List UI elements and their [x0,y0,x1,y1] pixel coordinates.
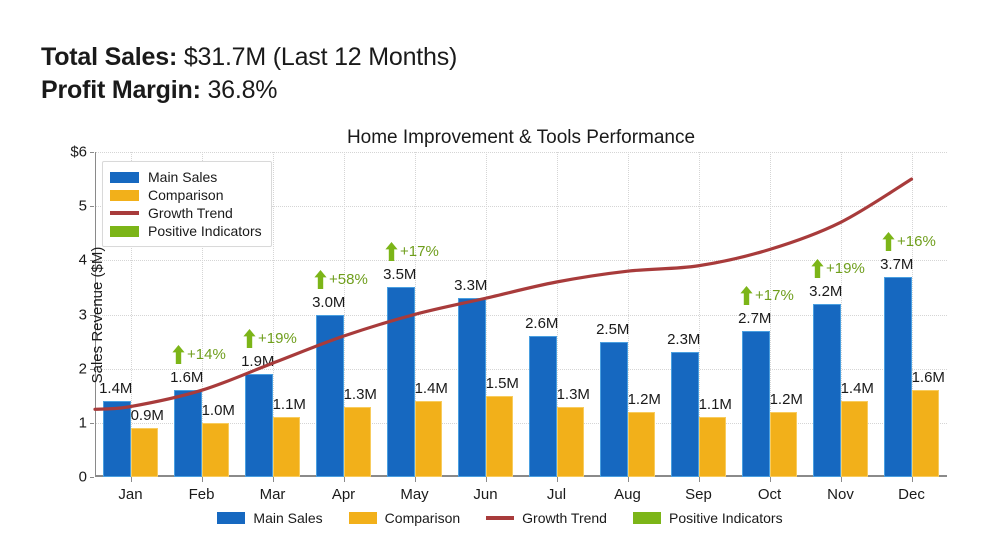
legend-item[interactable]: Positive Indicators [110,222,262,240]
y-tick-label: 1 [27,414,87,431]
up-arrow-icon [314,270,327,289]
x-tick-mark [273,477,274,482]
indicator-label: +14% [187,346,226,363]
up-arrow-icon [172,345,185,364]
bottom-legend: Main SalesComparisonGrowth TrendPositive… [0,510,1000,526]
legend-label: Main Sales [253,510,322,526]
y-tick-mark [90,423,94,424]
x-tick-mark [131,477,132,482]
positive-indicator: +17% [740,286,794,305]
legend-label: Growth Trend [148,205,233,221]
x-tick-label: Feb [162,486,242,503]
positive-indicator: +19% [811,259,865,278]
bottom-legend-item[interactable]: Comparison [349,510,460,526]
indicator-label: +17% [755,287,794,304]
bottom-legend-item[interactable]: Positive Indicators [633,510,783,526]
y-tick-mark [90,369,94,370]
chart-legend: Main SalesComparisonGrowth TrendPositive… [102,161,272,247]
x-tick-mark [841,477,842,482]
legend-swatch [110,226,139,237]
x-tick-mark [415,477,416,482]
bottom-legend-item[interactable]: Main Sales [217,510,322,526]
x-tick-mark [628,477,629,482]
y-tick-label: 2 [27,360,87,377]
legend-label: Growth Trend [522,510,607,526]
profit-margin-label: Profit Margin: [41,76,201,104]
legend-swatch [110,211,139,215]
y-tick-mark [90,315,94,316]
indicator-label: +19% [258,330,297,347]
total-sales-value: $31.7M (Last 12 Months) [184,43,457,71]
kpi-header: Total Sales: $31.7M (Last 12 Months) Pro… [41,41,457,107]
indicator-label: +16% [897,233,936,250]
x-tick-mark [699,477,700,482]
x-tick-label: Sep [659,486,739,503]
profit-margin-line: Profit Margin: 36.8% [41,74,457,107]
x-tick-label: Jul [517,486,597,503]
y-tick-mark [90,206,94,207]
legend-swatch [349,512,377,524]
positive-indicator: +58% [314,270,368,289]
legend-item[interactable]: Main Sales [110,168,262,186]
x-tick-label: Oct [730,486,810,503]
x-tick-mark [912,477,913,482]
x-tick-label: May [375,486,455,503]
x-tick-label: Mar [233,486,313,503]
indicator-label: +17% [400,243,439,260]
legend-item[interactable]: Growth Trend [110,204,262,222]
y-tick-label: 0 [27,469,87,486]
up-arrow-icon [243,329,256,348]
positive-indicator: +16% [882,232,936,251]
x-tick-label: Nov [801,486,881,503]
x-tick-mark [770,477,771,482]
y-tick-mark [90,260,94,261]
up-arrow-icon [882,232,895,251]
x-tick-mark [557,477,558,482]
y-tick-mark [90,477,94,478]
total-sales-line: Total Sales: $31.7M (Last 12 Months) [41,41,457,74]
x-tick-mark [344,477,345,482]
positive-indicator: +17% [385,242,439,261]
x-tick-label: Apr [304,486,384,503]
total-sales-label: Total Sales: [41,43,177,71]
y-tick-label: 4 [27,252,87,269]
legend-label: Main Sales [148,169,217,185]
legend-label: Comparison [385,510,460,526]
legend-label: Positive Indicators [669,510,783,526]
x-tick-mark [486,477,487,482]
x-tick-label: Jun [446,486,526,503]
chart-title: Home Improvement & Tools Performance [95,127,947,149]
bottom-legend-item[interactable]: Growth Trend [486,510,607,526]
sales-performance-chart: Home Improvement & Tools Performance Sal… [0,118,1000,546]
profit-margin-value: 36.8% [207,76,277,104]
legend-swatch [110,190,139,201]
x-tick-label: Aug [588,486,668,503]
y-tick-label: 5 [27,198,87,215]
up-arrow-icon [385,242,398,261]
legend-swatch [110,172,139,183]
legend-swatch [486,516,514,520]
legend-swatch [633,512,661,524]
indicator-label: +58% [329,271,368,288]
legend-swatch [217,512,245,524]
y-tick-label: $6 [27,144,87,161]
indicator-label: +19% [826,260,865,277]
positive-indicator: +14% [172,345,226,364]
x-tick-mark [202,477,203,482]
positive-indicator: +19% [243,329,297,348]
legend-label: Positive Indicators [148,223,262,239]
legend-label: Comparison [148,187,223,203]
legend-item[interactable]: Comparison [110,186,262,204]
up-arrow-icon [811,259,824,278]
plot-area: Sales Revenue ($M) 012345$6 JanFebMarApr… [95,152,947,477]
x-tick-label: Dec [872,486,952,503]
y-tick-mark [90,152,94,153]
up-arrow-icon [740,286,753,305]
y-tick-label: 3 [27,306,87,323]
x-tick-label: Jan [91,486,171,503]
